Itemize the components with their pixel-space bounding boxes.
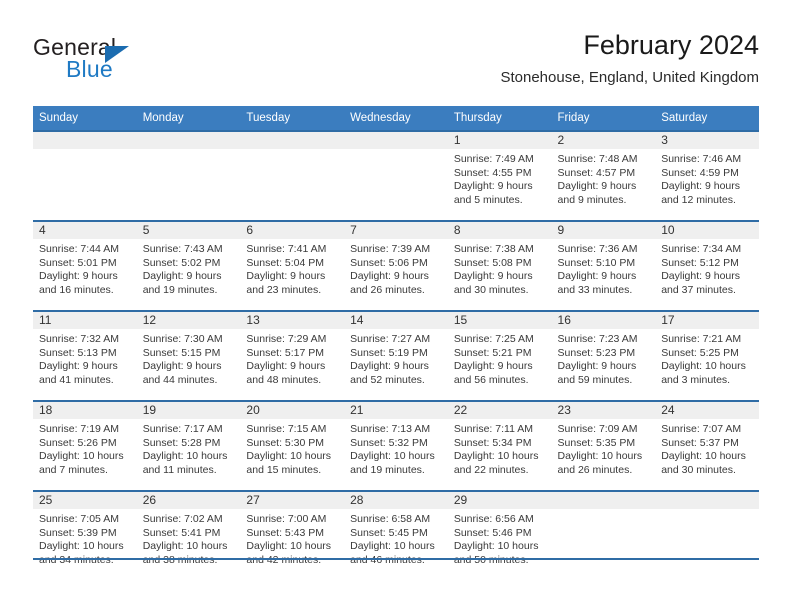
day-info-line: Sunrise: 7:02 AM <box>143 513 236 527</box>
day-cell-inner: 28Sunrise: 6:58 AMSunset: 5:45 PMDayligh… <box>344 492 448 580</box>
day-info-line: Sunset: 5:02 PM <box>143 257 236 271</box>
day-cell-inner: 12Sunrise: 7:30 AMSunset: 5:15 PMDayligh… <box>137 312 241 400</box>
day-cell-inner <box>33 132 137 220</box>
weekday-header-tuesday: Tuesday <box>240 106 344 131</box>
day-cell-inner: 11Sunrise: 7:32 AMSunset: 5:13 PMDayligh… <box>33 312 137 400</box>
day-info-line: and 59 minutes. <box>558 374 651 388</box>
day-info-line: Sunrise: 7:38 AM <box>454 243 547 257</box>
calendar-day-cell[interactable]: 13Sunrise: 7:29 AMSunset: 5:17 PMDayligh… <box>240 311 344 401</box>
day-info-line: Sunset: 5:10 PM <box>558 257 651 271</box>
day-info-line: Daylight: 9 hours <box>661 180 754 194</box>
day-sun-info: Sunrise: 7:36 AMSunset: 5:10 PMDaylight:… <box>552 239 656 297</box>
calendar-day-cell[interactable]: 16Sunrise: 7:23 AMSunset: 5:23 PMDayligh… <box>552 311 656 401</box>
weekday-header-wednesday: Wednesday <box>344 106 448 131</box>
day-info-line: and 46 minutes. <box>350 554 443 568</box>
day-info-line: Sunset: 5:37 PM <box>661 437 754 451</box>
calendar-day-cell[interactable]: 14Sunrise: 7:27 AMSunset: 5:19 PMDayligh… <box>344 311 448 401</box>
day-info-line: Sunset: 5:12 PM <box>661 257 754 271</box>
day-info-line: Sunrise: 7:05 AM <box>39 513 132 527</box>
day-cell-inner <box>344 132 448 220</box>
day-info-line: Sunrise: 7:07 AM <box>661 423 754 437</box>
day-info-line: and 26 minutes. <box>350 284 443 298</box>
day-info-line: Sunset: 5:41 PM <box>143 527 236 541</box>
day-number <box>137 132 241 149</box>
day-cell-inner: 3Sunrise: 7:46 AMSunset: 4:59 PMDaylight… <box>655 132 759 220</box>
calendar-day-cell <box>240 131 344 221</box>
day-info-line: Daylight: 10 hours <box>661 450 754 464</box>
day-info-line: Daylight: 9 hours <box>558 180 651 194</box>
day-info-line: Sunset: 5:06 PM <box>350 257 443 271</box>
calendar-week-row: 11Sunrise: 7:32 AMSunset: 5:13 PMDayligh… <box>33 311 759 401</box>
day-number: 17 <box>655 312 759 329</box>
general-blue-logo: General Blue <box>33 34 233 92</box>
day-sun-info: Sunrise: 7:49 AMSunset: 4:55 PMDaylight:… <box>448 149 552 207</box>
calendar-day-cell[interactable]: 6Sunrise: 7:41 AMSunset: 5:04 PMDaylight… <box>240 221 344 311</box>
calendar-day-cell[interactable]: 22Sunrise: 7:11 AMSunset: 5:34 PMDayligh… <box>448 401 552 491</box>
day-cell-inner <box>240 132 344 220</box>
day-number: 21 <box>344 402 448 419</box>
day-sun-info: Sunrise: 7:23 AMSunset: 5:23 PMDaylight:… <box>552 329 656 387</box>
day-cell-inner <box>137 132 241 220</box>
day-cell-inner <box>655 492 759 580</box>
day-number: 14 <box>344 312 448 329</box>
day-sun-info: Sunrise: 7:34 AMSunset: 5:12 PMDaylight:… <box>655 239 759 297</box>
day-info-line: Daylight: 10 hours <box>246 450 339 464</box>
day-info-line: Sunset: 5:01 PM <box>39 257 132 271</box>
day-sun-info <box>655 509 759 513</box>
day-cell-inner: 25Sunrise: 7:05 AMSunset: 5:39 PMDayligh… <box>33 492 137 580</box>
day-info-line: Sunrise: 7:30 AM <box>143 333 236 347</box>
day-number: 3 <box>655 132 759 149</box>
day-info-line: and 48 minutes. <box>246 374 339 388</box>
day-number: 28 <box>344 492 448 509</box>
day-info-line: Daylight: 10 hours <box>246 540 339 554</box>
day-info-line: Sunrise: 7:49 AM <box>454 153 547 167</box>
day-sun-info <box>240 149 344 153</box>
day-number: 12 <box>137 312 241 329</box>
day-number: 4 <box>33 222 137 239</box>
day-info-line: Sunset: 5:21 PM <box>454 347 547 361</box>
day-number: 16 <box>552 312 656 329</box>
weekday-header: Sunday Monday Tuesday Wednesday Thursday… <box>33 106 759 131</box>
day-sun-info: Sunrise: 7:30 AMSunset: 5:15 PMDaylight:… <box>137 329 241 387</box>
calendar-day-cell[interactable]: 28Sunrise: 6:58 AMSunset: 5:45 PMDayligh… <box>344 491 448 580</box>
day-sun-info: Sunrise: 7:25 AMSunset: 5:21 PMDaylight:… <box>448 329 552 387</box>
title-block: February 2024 Stonehouse, England, Unite… <box>500 28 759 89</box>
day-info-line: and 19 minutes. <box>350 464 443 478</box>
day-sun-info: Sunrise: 7:39 AMSunset: 5:06 PMDaylight:… <box>344 239 448 297</box>
day-info-line: Daylight: 10 hours <box>39 450 132 464</box>
day-cell-inner: 13Sunrise: 7:29 AMSunset: 5:17 PMDayligh… <box>240 312 344 400</box>
day-info-line: Sunrise: 7:41 AM <box>246 243 339 257</box>
day-cell-inner: 22Sunrise: 7:11 AMSunset: 5:34 PMDayligh… <box>448 402 552 490</box>
calendar-day-cell[interactable]: 20Sunrise: 7:15 AMSunset: 5:30 PMDayligh… <box>240 401 344 491</box>
day-cell-inner: 4Sunrise: 7:44 AMSunset: 5:01 PMDaylight… <box>33 222 137 310</box>
day-info-line: Sunrise: 7:34 AM <box>661 243 754 257</box>
page-title: February 2024 <box>500 28 759 62</box>
day-sun-info <box>344 149 448 153</box>
day-info-line: Sunset: 5:04 PM <box>246 257 339 271</box>
day-info-line: Daylight: 9 hours <box>558 270 651 284</box>
day-cell-inner: 1Sunrise: 7:49 AMSunset: 4:55 PMDaylight… <box>448 132 552 220</box>
calendar-day-cell[interactable]: 21Sunrise: 7:13 AMSunset: 5:32 PMDayligh… <box>344 401 448 491</box>
calendar-day-cell[interactable]: 7Sunrise: 7:39 AMSunset: 5:06 PMDaylight… <box>344 221 448 311</box>
day-info-line: Sunrise: 7:11 AM <box>454 423 547 437</box>
day-number <box>33 132 137 149</box>
day-info-line: Daylight: 9 hours <box>39 360 132 374</box>
calendar-day-cell[interactable]: 24Sunrise: 7:07 AMSunset: 5:37 PMDayligh… <box>655 401 759 491</box>
day-info-line: and 9 minutes. <box>558 194 651 208</box>
day-number: 11 <box>33 312 137 329</box>
day-sun-info: Sunrise: 7:19 AMSunset: 5:26 PMDaylight:… <box>33 419 137 477</box>
day-sun-info: Sunrise: 7:09 AMSunset: 5:35 PMDaylight:… <box>552 419 656 477</box>
calendar-day-cell[interactable]: 17Sunrise: 7:21 AMSunset: 5:25 PMDayligh… <box>655 311 759 401</box>
calendar-day-cell[interactable]: 5Sunrise: 7:43 AMSunset: 5:02 PMDaylight… <box>137 221 241 311</box>
day-info-line: Daylight: 10 hours <box>454 540 547 554</box>
day-info-line: Sunset: 4:55 PM <box>454 167 547 181</box>
day-info-line: and 11 minutes. <box>143 464 236 478</box>
calendar-day-cell <box>137 131 241 221</box>
day-info-line: Sunset: 5:28 PM <box>143 437 236 451</box>
day-info-line: Daylight: 9 hours <box>246 360 339 374</box>
day-cell-inner: 20Sunrise: 7:15 AMSunset: 5:30 PMDayligh… <box>240 402 344 490</box>
day-sun-info: Sunrise: 7:13 AMSunset: 5:32 PMDaylight:… <box>344 419 448 477</box>
day-sun-info: Sunrise: 7:32 AMSunset: 5:13 PMDaylight:… <box>33 329 137 387</box>
day-number: 26 <box>137 492 241 509</box>
calendar-page: General Blue February 2024 Stonehouse, E… <box>0 0 792 612</box>
day-info-line: Sunrise: 7:36 AM <box>558 243 651 257</box>
calendar-day-cell[interactable]: 26Sunrise: 7:02 AMSunset: 5:41 PMDayligh… <box>137 491 241 580</box>
calendar-day-cell[interactable]: 8Sunrise: 7:38 AMSunset: 5:08 PMDaylight… <box>448 221 552 311</box>
day-number <box>655 492 759 509</box>
day-info-line: Sunset: 5:08 PM <box>454 257 547 271</box>
day-number <box>552 492 656 509</box>
day-cell-inner: 2Sunrise: 7:48 AMSunset: 4:57 PMDaylight… <box>552 132 656 220</box>
day-info-line: Sunrise: 7:13 AM <box>350 423 443 437</box>
day-sun-info <box>137 149 241 153</box>
calendar-day-cell[interactable]: 18Sunrise: 7:19 AMSunset: 5:26 PMDayligh… <box>33 401 137 491</box>
day-info-line: and 41 minutes. <box>39 374 132 388</box>
weekday-header-thursday: Thursday <box>448 106 552 131</box>
day-info-line: Sunset: 5:32 PM <box>350 437 443 451</box>
calendar-day-cell[interactable]: 9Sunrise: 7:36 AMSunset: 5:10 PMDaylight… <box>552 221 656 311</box>
page-subtitle: Stonehouse, England, United Kingdom <box>500 67 759 89</box>
day-cell-inner: 23Sunrise: 7:09 AMSunset: 5:35 PMDayligh… <box>552 402 656 490</box>
calendar-day-cell[interactable]: 23Sunrise: 7:09 AMSunset: 5:35 PMDayligh… <box>552 401 656 491</box>
day-info-line: Sunset: 5:35 PM <box>558 437 651 451</box>
day-info-line: Sunrise: 7:29 AM <box>246 333 339 347</box>
day-number: 9 <box>552 222 656 239</box>
day-cell-inner: 26Sunrise: 7:02 AMSunset: 5:41 PMDayligh… <box>137 492 241 580</box>
day-cell-inner: 17Sunrise: 7:21 AMSunset: 5:25 PMDayligh… <box>655 312 759 400</box>
day-sun-info: Sunrise: 7:46 AMSunset: 4:59 PMDaylight:… <box>655 149 759 207</box>
day-info-line: Sunset: 4:57 PM <box>558 167 651 181</box>
day-number <box>344 132 448 149</box>
day-info-line: Daylight: 10 hours <box>39 540 132 554</box>
day-info-line: and 33 minutes. <box>558 284 651 298</box>
calendar-bottom-rule <box>33 558 759 560</box>
day-info-line: Sunset: 5:26 PM <box>39 437 132 451</box>
day-cell-inner: 27Sunrise: 7:00 AMSunset: 5:43 PMDayligh… <box>240 492 344 580</box>
day-cell-inner: 8Sunrise: 7:38 AMSunset: 5:08 PMDaylight… <box>448 222 552 310</box>
calendar-day-cell[interactable]: 1Sunrise: 7:49 AMSunset: 4:55 PMDaylight… <box>448 131 552 221</box>
day-sun-info: Sunrise: 7:27 AMSunset: 5:19 PMDaylight:… <box>344 329 448 387</box>
day-info-line: Sunrise: 7:15 AM <box>246 423 339 437</box>
day-number: 23 <box>552 402 656 419</box>
day-cell-inner: 5Sunrise: 7:43 AMSunset: 5:02 PMDaylight… <box>137 222 241 310</box>
calendar-header-row: Sunday Monday Tuesday Wednesday Thursday… <box>33 106 759 131</box>
day-cell-inner: 7Sunrise: 7:39 AMSunset: 5:06 PMDaylight… <box>344 222 448 310</box>
day-info-line: and 44 minutes. <box>143 374 236 388</box>
day-info-line: Daylight: 10 hours <box>350 450 443 464</box>
day-cell-inner: 18Sunrise: 7:19 AMSunset: 5:26 PMDayligh… <box>33 402 137 490</box>
day-sun-info: Sunrise: 7:21 AMSunset: 5:25 PMDaylight:… <box>655 329 759 387</box>
weekday-header-friday: Friday <box>552 106 656 131</box>
day-info-line: and 42 minutes. <box>246 554 339 568</box>
day-info-line: Sunrise: 7:32 AM <box>39 333 132 347</box>
day-info-line: and 7 minutes. <box>39 464 132 478</box>
weekday-header-sunday: Sunday <box>33 106 137 131</box>
day-number: 7 <box>344 222 448 239</box>
day-number: 15 <box>448 312 552 329</box>
day-info-line: Sunset: 5:23 PM <box>558 347 651 361</box>
day-info-line: Sunset: 5:17 PM <box>246 347 339 361</box>
calendar-day-cell <box>33 131 137 221</box>
day-info-line: Sunrise: 7:46 AM <box>661 153 754 167</box>
day-info-line: Daylight: 9 hours <box>143 270 236 284</box>
day-cell-inner: 15Sunrise: 7:25 AMSunset: 5:21 PMDayligh… <box>448 312 552 400</box>
day-cell-inner: 16Sunrise: 7:23 AMSunset: 5:23 PMDayligh… <box>552 312 656 400</box>
day-info-line: Daylight: 9 hours <box>350 360 443 374</box>
day-info-line: Daylight: 9 hours <box>661 270 754 284</box>
day-number: 29 <box>448 492 552 509</box>
day-info-line: and 16 minutes. <box>39 284 132 298</box>
calendar-body: 1Sunrise: 7:49 AMSunset: 4:55 PMDaylight… <box>33 131 759 580</box>
day-cell-inner: 14Sunrise: 7:27 AMSunset: 5:19 PMDayligh… <box>344 312 448 400</box>
day-number: 2 <box>552 132 656 149</box>
calendar-day-cell[interactable]: 29Sunrise: 6:56 AMSunset: 5:46 PMDayligh… <box>448 491 552 580</box>
calendar-day-cell[interactable]: 12Sunrise: 7:30 AMSunset: 5:15 PMDayligh… <box>137 311 241 401</box>
calendar-day-cell[interactable]: 11Sunrise: 7:32 AMSunset: 5:13 PMDayligh… <box>33 311 137 401</box>
day-info-line: Sunrise: 7:43 AM <box>143 243 236 257</box>
day-info-line: and 5 minutes. <box>454 194 547 208</box>
day-info-line: Sunset: 5:25 PM <box>661 347 754 361</box>
day-number: 13 <box>240 312 344 329</box>
day-info-line: Daylight: 9 hours <box>246 270 339 284</box>
calendar-week-row: 25Sunrise: 7:05 AMSunset: 5:39 PMDayligh… <box>33 491 759 580</box>
day-info-line: and 15 minutes. <box>246 464 339 478</box>
day-sun-info: Sunrise: 7:38 AMSunset: 5:08 PMDaylight:… <box>448 239 552 297</box>
day-number: 18 <box>33 402 137 419</box>
day-info-line: Daylight: 9 hours <box>454 180 547 194</box>
day-info-line: Sunset: 5:39 PM <box>39 527 132 541</box>
calendar-day-cell <box>552 491 656 580</box>
day-info-line: Sunrise: 7:19 AM <box>39 423 132 437</box>
day-number: 24 <box>655 402 759 419</box>
day-info-line: and 22 minutes. <box>454 464 547 478</box>
day-info-line: Sunrise: 7:25 AM <box>454 333 547 347</box>
calendar-week-row: 4Sunrise: 7:44 AMSunset: 5:01 PMDaylight… <box>33 221 759 311</box>
day-info-line: Sunset: 5:43 PM <box>246 527 339 541</box>
calendar-day-cell <box>655 491 759 580</box>
day-info-line: Sunset: 5:45 PM <box>350 527 443 541</box>
day-number: 19 <box>137 402 241 419</box>
day-info-line: and 56 minutes. <box>454 374 547 388</box>
day-sun-info: Sunrise: 7:29 AMSunset: 5:17 PMDaylight:… <box>240 329 344 387</box>
day-info-line: and 12 minutes. <box>661 194 754 208</box>
day-info-line: and 37 minutes. <box>661 284 754 298</box>
day-sun-info <box>33 149 137 153</box>
day-info-line: Sunrise: 7:39 AM <box>350 243 443 257</box>
day-info-line: and 38 minutes. <box>143 554 236 568</box>
day-info-line: Daylight: 9 hours <box>39 270 132 284</box>
day-number: 25 <box>33 492 137 509</box>
day-cell-inner: 21Sunrise: 7:13 AMSunset: 5:32 PMDayligh… <box>344 402 448 490</box>
day-info-line: Sunrise: 6:58 AM <box>350 513 443 527</box>
day-info-line: and 34 minutes. <box>39 554 132 568</box>
day-sun-info: Sunrise: 7:48 AMSunset: 4:57 PMDaylight:… <box>552 149 656 207</box>
day-info-line: Sunset: 4:59 PM <box>661 167 754 181</box>
day-info-line: and 26 minutes. <box>558 464 651 478</box>
day-info-line: Daylight: 10 hours <box>143 540 236 554</box>
day-info-line: and 30 minutes. <box>661 464 754 478</box>
day-info-line: and 52 minutes. <box>350 374 443 388</box>
logo-text-blue: Blue <box>66 56 113 83</box>
day-info-line: Sunrise: 7:48 AM <box>558 153 651 167</box>
calendar-day-cell[interactable]: 4Sunrise: 7:44 AMSunset: 5:01 PMDaylight… <box>33 221 137 311</box>
day-number: 6 <box>240 222 344 239</box>
day-sun-info: Sunrise: 7:44 AMSunset: 5:01 PMDaylight:… <box>33 239 137 297</box>
day-info-line: Sunrise: 7:23 AM <box>558 333 651 347</box>
day-number: 10 <box>655 222 759 239</box>
day-info-line: Sunrise: 6:56 AM <box>454 513 547 527</box>
day-cell-inner: 6Sunrise: 7:41 AMSunset: 5:04 PMDaylight… <box>240 222 344 310</box>
day-info-line: Sunrise: 7:27 AM <box>350 333 443 347</box>
calendar-week-row: 1Sunrise: 7:49 AMSunset: 4:55 PMDaylight… <box>33 131 759 221</box>
day-cell-inner: 19Sunrise: 7:17 AMSunset: 5:28 PMDayligh… <box>137 402 241 490</box>
day-cell-inner: 9Sunrise: 7:36 AMSunset: 5:10 PMDaylight… <box>552 222 656 310</box>
day-info-line: Daylight: 9 hours <box>454 270 547 284</box>
day-info-line: Sunset: 5:46 PM <box>454 527 547 541</box>
calendar-day-cell[interactable]: 2Sunrise: 7:48 AMSunset: 4:57 PMDaylight… <box>552 131 656 221</box>
day-cell-inner: 24Sunrise: 7:07 AMSunset: 5:37 PMDayligh… <box>655 402 759 490</box>
day-sun-info: Sunrise: 7:17 AMSunset: 5:28 PMDaylight:… <box>137 419 241 477</box>
day-info-line: Sunset: 5:19 PM <box>350 347 443 361</box>
day-sun-info <box>552 509 656 513</box>
day-info-line: and 23 minutes. <box>246 284 339 298</box>
weekday-header-saturday: Saturday <box>655 106 759 131</box>
day-number: 27 <box>240 492 344 509</box>
day-info-line: Daylight: 9 hours <box>558 360 651 374</box>
day-info-line: and 3 minutes. <box>661 374 754 388</box>
day-info-line: and 19 minutes. <box>143 284 236 298</box>
day-cell-inner: 29Sunrise: 6:56 AMSunset: 5:46 PMDayligh… <box>448 492 552 580</box>
day-info-line: Sunrise: 7:44 AM <box>39 243 132 257</box>
day-info-line: Sunset: 5:13 PM <box>39 347 132 361</box>
day-info-line: Daylight: 10 hours <box>454 450 547 464</box>
calendar-day-cell[interactable]: 10Sunrise: 7:34 AMSunset: 5:12 PMDayligh… <box>655 221 759 311</box>
day-cell-inner: 10Sunrise: 7:34 AMSunset: 5:12 PMDayligh… <box>655 222 759 310</box>
day-info-line: Daylight: 10 hours <box>558 450 651 464</box>
calendar-day-cell[interactable]: 3Sunrise: 7:46 AMSunset: 4:59 PMDaylight… <box>655 131 759 221</box>
day-info-line: Daylight: 9 hours <box>454 360 547 374</box>
day-cell-inner <box>552 492 656 580</box>
calendar-table: Sunday Monday Tuesday Wednesday Thursday… <box>33 106 759 580</box>
page-header: General Blue February 2024 Stonehouse, E… <box>33 28 759 100</box>
day-info-line: Sunrise: 7:17 AM <box>143 423 236 437</box>
day-number: 1 <box>448 132 552 149</box>
day-sun-info: Sunrise: 7:15 AMSunset: 5:30 PMDaylight:… <box>240 419 344 477</box>
day-info-line: Daylight: 10 hours <box>143 450 236 464</box>
day-info-line: Sunset: 5:15 PM <box>143 347 236 361</box>
day-info-line: and 50 minutes. <box>454 554 547 568</box>
day-sun-info: Sunrise: 7:07 AMSunset: 5:37 PMDaylight:… <box>655 419 759 477</box>
calendar-day-cell[interactable]: 27Sunrise: 7:00 AMSunset: 5:43 PMDayligh… <box>240 491 344 580</box>
day-info-line: Sunrise: 7:00 AM <box>246 513 339 527</box>
day-info-line: Daylight: 9 hours <box>143 360 236 374</box>
calendar-day-cell <box>344 131 448 221</box>
calendar-day-cell[interactable]: 15Sunrise: 7:25 AMSunset: 5:21 PMDayligh… <box>448 311 552 401</box>
day-sun-info: Sunrise: 7:43 AMSunset: 5:02 PMDaylight:… <box>137 239 241 297</box>
day-number: 5 <box>137 222 241 239</box>
day-info-line: Sunset: 5:34 PM <box>454 437 547 451</box>
day-info-line: Sunset: 5:30 PM <box>246 437 339 451</box>
day-number: 8 <box>448 222 552 239</box>
day-info-line: Sunrise: 7:21 AM <box>661 333 754 347</box>
day-info-line: Daylight: 10 hours <box>661 360 754 374</box>
day-info-line: Sunrise: 7:09 AM <box>558 423 651 437</box>
day-number: 20 <box>240 402 344 419</box>
day-sun-info: Sunrise: 7:41 AMSunset: 5:04 PMDaylight:… <box>240 239 344 297</box>
weekday-header-monday: Monday <box>137 106 241 131</box>
day-sun-info: Sunrise: 7:11 AMSunset: 5:34 PMDaylight:… <box>448 419 552 477</box>
calendar-week-row: 18Sunrise: 7:19 AMSunset: 5:26 PMDayligh… <box>33 401 759 491</box>
day-number: 22 <box>448 402 552 419</box>
day-number <box>240 132 344 149</box>
day-info-line: Daylight: 9 hours <box>350 270 443 284</box>
calendar-day-cell[interactable]: 25Sunrise: 7:05 AMSunset: 5:39 PMDayligh… <box>33 491 137 580</box>
calendar-day-cell[interactable]: 19Sunrise: 7:17 AMSunset: 5:28 PMDayligh… <box>137 401 241 491</box>
day-info-line: and 30 minutes. <box>454 284 547 298</box>
day-info-line: Daylight: 10 hours <box>350 540 443 554</box>
